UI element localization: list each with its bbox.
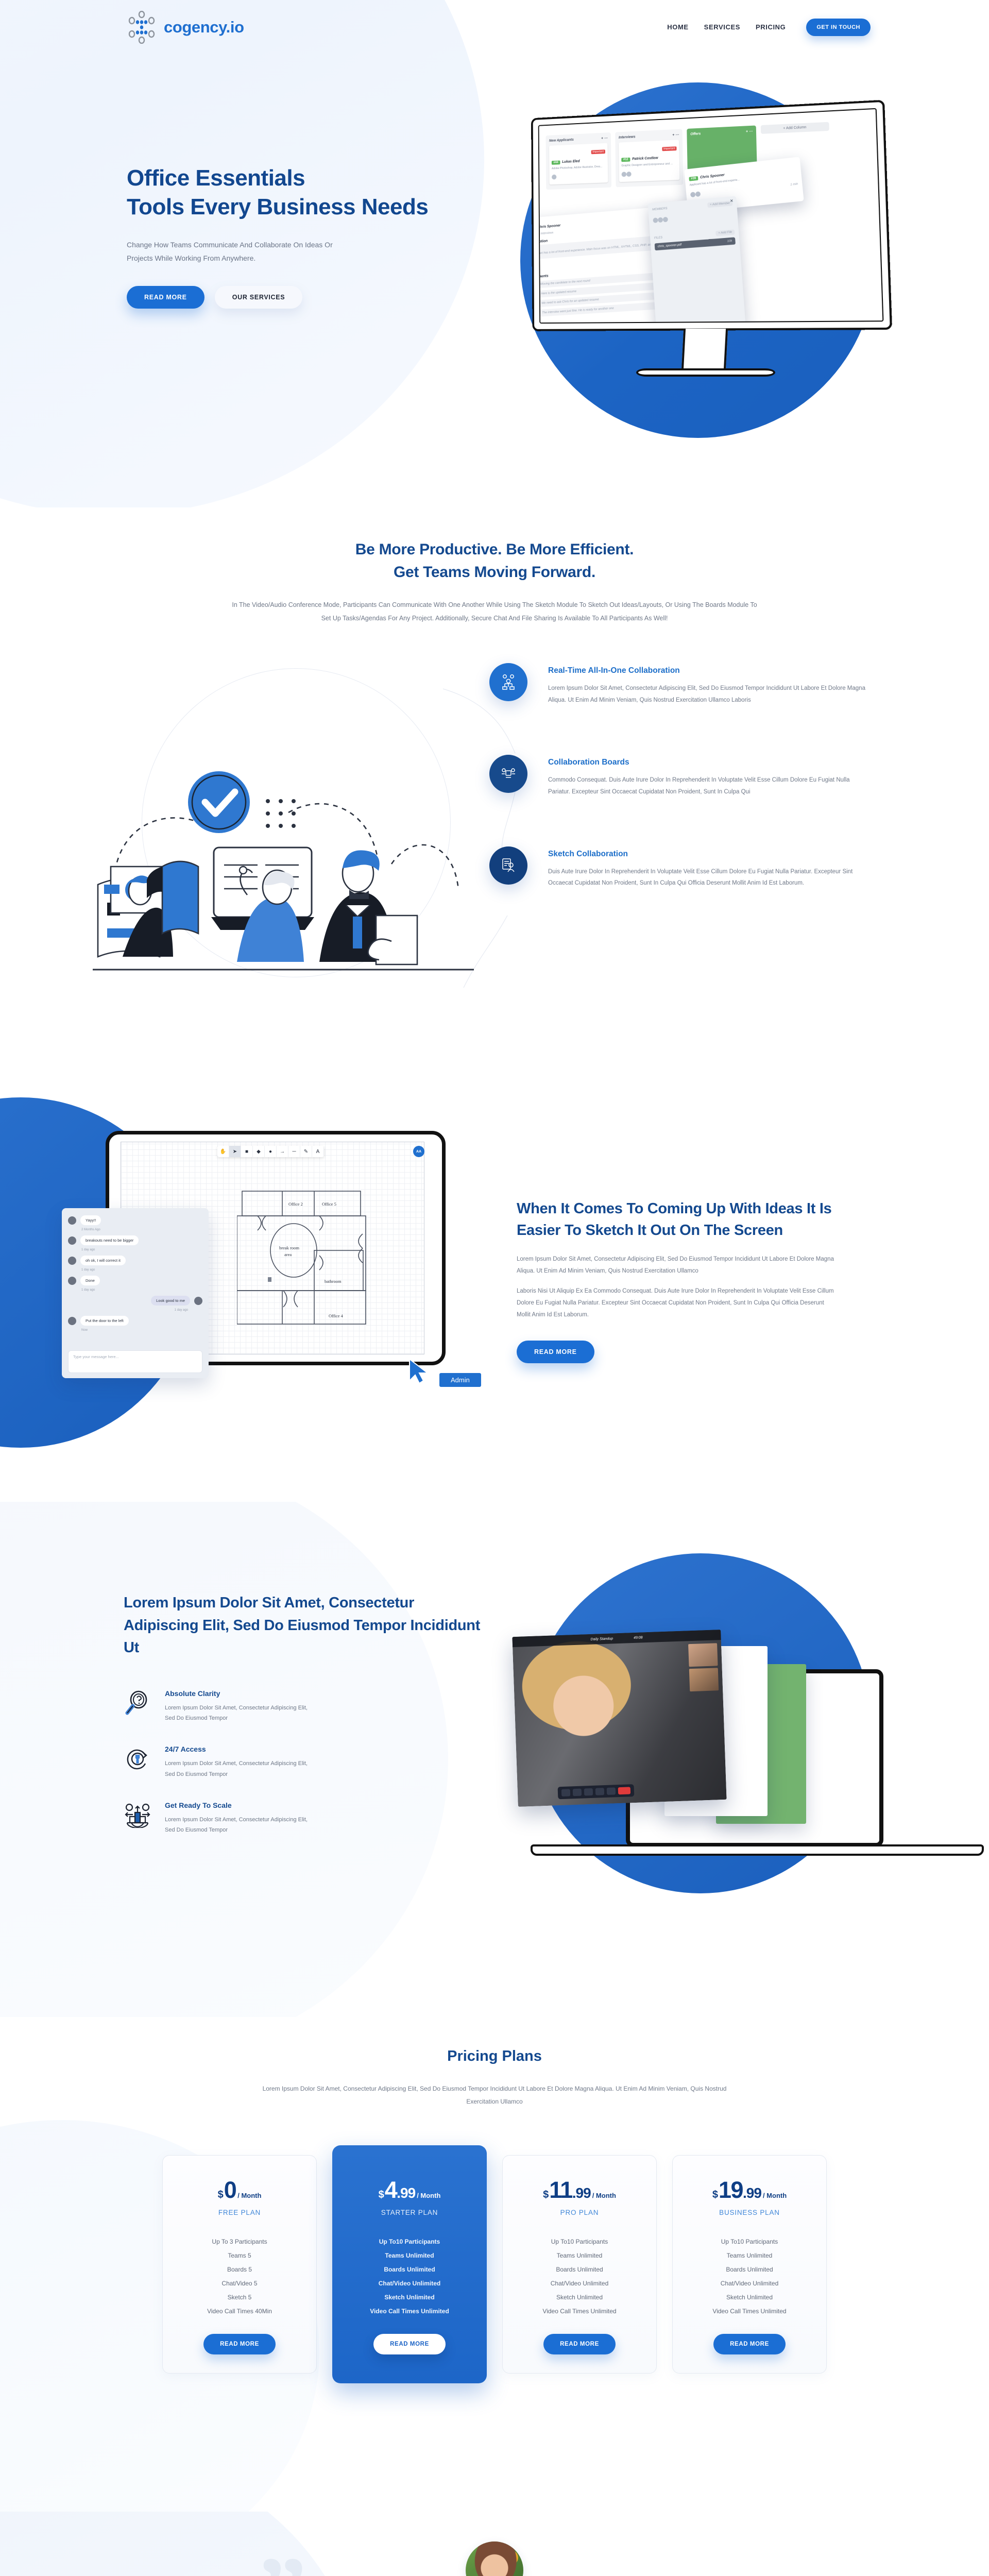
plan-feature: Video Call Times Unlimited [514,2304,645,2318]
feature-desc: Lorem Ipsum Dolor Sit Amet, Consectetur … [548,683,871,706]
productivity-section: Be More Productive. Be More Efficient. G… [0,507,989,1069]
arrow-tool-icon[interactable]: → [277,1146,288,1157]
testimonial-avatar [466,2541,523,2576]
plan-name: BUSINESS PLAN [684,2209,815,2216]
add-member-button[interactable]: + Add Member [707,200,733,208]
avatar [68,1236,76,1245]
tablet-mockup: Office 2 Office 5 break room area bathro… [106,1131,461,1378]
plan-feature: Teams Unlimited [684,2249,815,2263]
sketch-icon [489,846,527,885]
feature-item: Real-Time All-In-One Collaboration Lorem… [489,663,871,706]
feature-title: Collaboration Boards [548,758,871,767]
nav-links-group: HOME SERVICES PRICING GET IN TOUCH [667,19,871,36]
cursor-icon [407,1358,433,1388]
share-screen-icon[interactable] [595,1788,604,1795]
teamwork-illustration [82,735,494,993]
svg-text:Office 4: Office 4 [329,1313,344,1318]
card-desc: Adobe Photoshop, Adobe Illustrator, Drea… [552,165,605,171]
plan-features: Up To10 Participants Teams Unlimited Boa… [514,2235,645,2318]
benefit-item: Get Ready To Scale Lorem Ipsum Dolor Sit… [124,1801,484,1836]
section3-read-more-button[interactable]: READ MORE [517,1341,594,1363]
price: $ 19 .99 / Month [684,2178,815,2201]
section2-body: Real-Time All-In-One Collaboration Lorem… [0,658,989,1065]
brand-name: cogency.io [164,18,244,37]
section4-title: Lorem Ipsum Dolor Sit Amet, Consectetur … [124,1592,484,1659]
kanban-column-menu-icon[interactable]: + ⋯ [746,129,753,134]
svg-text:break room: break room [279,1245,299,1250]
plan-feature: Video Call Times Unlimited [344,2304,475,2318]
chat-message: oh ok, I will correct it [68,1256,202,1265]
chat-message: breakouts need to be bigger [68,1235,202,1245]
important-flag: Important [591,149,605,154]
wrench-refresh-icon [124,1745,151,1773]
chat-time: 1 day ago [81,1289,202,1292]
section2-subtitle: In The Video/Audio Conference Mode, Part… [229,599,760,625]
avatar [658,217,663,223]
pricing-subtitle: Lorem Ipsum Dolor Sit Amet, Consectetur … [250,2082,739,2108]
end-call-icon[interactable] [618,1787,630,1794]
chat-bubble: breakouts need to be bigger [80,1235,139,1245]
hero-title: Office Essentials Tools Every Business N… [127,164,456,222]
plan-read-more-button[interactable]: READ MORE [543,2334,616,2354]
plan-feature: Chat/Video Unlimited [514,2277,645,2291]
add-file-button[interactable]: + Add File [715,229,735,236]
svg-text:Office 2: Office 2 [288,1201,303,1207]
plan-feature: Chat/Video 5 [174,2277,305,2291]
currency-symbol: $ [218,2189,224,2201]
plan-feature: Boards Unlimited [514,2263,645,2277]
testimonial-soft-blob [0,2512,361,2576]
chat-time: 1 day ago [81,1309,188,1312]
user-avatar-badge[interactable]: AA [413,1146,424,1157]
line-tool-icon[interactable]: ─ [288,1146,300,1157]
plan-feature: Teams Unlimited [344,2249,475,2263]
sketch-toolbar: ✋ ➤ ■ ◆ ● → ─ ✎ A [217,1146,324,1157]
avatar [626,172,632,177]
price-integer: 4 [385,2178,397,2201]
avatar [68,1216,76,1225]
chat-message: Done [68,1276,202,1285]
avatar [690,192,696,197]
avatar [622,172,627,177]
brand-logo-group[interactable]: cogency.io [126,11,244,44]
avatar [194,1297,202,1305]
plan-feature: Boards Unlimited [684,2263,815,2277]
section2-title-line1: Be More Productive. Be More Efficient. [355,541,634,558]
section2-title: Be More Productive. Be More Efficient. G… [0,538,989,583]
plan-feature: Sketch Unlimited [344,2291,475,2304]
mic-icon[interactable] [561,1789,570,1797]
card-badge: #39 [689,176,698,181]
members-label: MEMBERS [652,207,668,211]
avatar [68,1317,76,1325]
call-timer: 49:08 [634,1636,643,1640]
kanban-column-menu-icon[interactable]: + ⋯ [601,136,607,140]
price-period: / Month [592,2192,616,2199]
benefit-desc: Lorem Ipsum Dolor Sit Amet, Consectetur … [165,1758,314,1780]
feature-title: Real-Time All-In-One Collaboration [548,666,871,675]
monitor-neck [681,329,728,370]
get-in-touch-button[interactable]: GET IN TOUCH [806,19,871,36]
plan-feature: Video Call Times Unlimited [684,2304,815,2318]
section3-title: When It Comes To Coming Up With Ideas It… [517,1198,836,1241]
monitor-screen: New Applicants+ ⋯ Important #44Lukas Ele… [538,108,884,324]
call-title: Daily Standup [590,1637,613,1641]
benefit-list: Absolute Clarity Lorem Ipsum Dolor Sit A… [124,1689,484,1836]
plan-name: STARTER PLAN [344,2209,475,2216]
laptop-mockup: ∞ Daily Standup 49:08 [515,1615,896,1883]
sketch-copy: When It Comes To Coming Up With Ideas It… [517,1198,836,1363]
price-decimal: .99 [743,2185,761,2201]
participant-thumbnail [688,1643,718,1667]
hero-our-services-button[interactable]: OUR SERVICES [215,286,303,309]
circle-tool-icon[interactable]: ● [265,1146,277,1157]
testimonial-section: ” BRIAN T. SULLIVAN Lorem Ipsum Dolor Si… [0,2512,989,2576]
currency-symbol: $ [379,2189,384,2201]
price-period: / Month [417,2192,440,2199]
price: $ 0 / Month [174,2178,305,2201]
nav-link-services[interactable]: SERVICES [704,23,740,31]
select-tool-icon[interactable]: ➤ [229,1146,241,1157]
avatar [68,1277,76,1285]
chat-time: 1 day ago [81,1248,202,1251]
svg-text:bathroom: bathroom [325,1279,342,1284]
plan-feature: Chat/Video Unlimited [344,2277,475,2291]
files-label: FILES [654,236,663,240]
feature-item: Collaboration Boards Commodo Consequat. … [489,755,871,798]
benefit-desc: Lorem Ipsum Dolor Sit Amet, Consectetur … [165,1815,314,1836]
price-decimal: .99 [572,2185,591,2201]
plan-feature: Sketch 5 [174,2291,305,2304]
price: $ 4 .99 / Month [344,2178,475,2201]
hero-section: cogency.io HOME SERVICES PRICING GET IN … [0,0,989,507]
main-navbar: cogency.io HOME SERVICES PRICING GET IN … [0,0,989,54]
card-name: Lukas Eled [562,160,579,164]
plan-feature: Boards 5 [174,2263,305,2277]
chat-bubble: Done [80,1276,100,1285]
benefit-title: Absolute Clarity [165,1689,314,1698]
plan-features: Up To 3 Participants Teams 5 Boards 5 Ch… [174,2235,305,2318]
pan-tool-icon[interactable]: ✋ [217,1146,229,1157]
quote-mark-icon: ” [258,2543,306,2576]
price-decimal: .99 [397,2185,415,2201]
scale-globe-icon [124,1801,151,1829]
kanban-column-menu-icon[interactable]: + ⋯ [672,133,679,137]
card-name: Chris Spooner [700,173,725,179]
text-tool-icon[interactable]: A [312,1146,324,1157]
kanban-column: Interviews+ ⋯ Important #12Patrick Costl… [615,129,683,187]
plan-feature: Up To 3 Participants [174,2235,305,2249]
hero-copy: Office Essentials Tools Every Business N… [127,164,456,309]
plan-feature: Up To10 Participants [344,2235,475,2249]
benefits-section: Lorem Ipsum Dolor Sit Amet, Consectetur … [0,1502,989,2017]
video-call-card: Daily Standup 49:08 [512,1630,726,1807]
kanban-column-title: Offers [690,132,701,136]
chat-bubble: Yayy!! [80,1215,101,1225]
plan-feature: Boards Unlimited [344,2263,475,2277]
kanban-card[interactable]: Important #44Lukas Eled Adobe Photoshop,… [549,143,608,184]
kanban-column-title: New Applicants [549,138,574,143]
feature-desc: Commodo Consequat. Duis Aute Irure Dolor… [548,774,871,798]
price: $ 11 .99 / Month [514,2178,645,2201]
plan-features: Up To10 Participants Teams Unlimited Boa… [344,2235,475,2318]
benefit-title: Get Ready To Scale [165,1801,314,1809]
card-name: Patrick Costlow [632,156,658,161]
plan-feature: Up To10 Participants [514,2235,645,2249]
diamond-tool-icon[interactable]: ◆ [253,1146,265,1157]
plan-features: Up To10 Participants Teams Unlimited Boa… [684,2235,815,2318]
plan-feature: Sketch Unlimited [684,2291,815,2304]
plan-feature: Video Call Times 40Min [174,2304,305,2318]
feature-desc: Duis Aute Irure Dolor In Reprehenderit I… [548,866,871,889]
chat-bubble: oh ok, I will correct it [80,1256,126,1265]
feature-item: Sketch Collaboration Duis Aute Irure Dol… [489,846,871,889]
nav-link-home[interactable]: HOME [667,23,688,31]
avatar-image [466,2541,523,2576]
close-icon[interactable]: ✕ [730,198,734,204]
chat-message: Put the door to the left [68,1316,202,1326]
laptop-base [531,1844,984,1856]
price-integer: 11 [549,2178,572,2201]
benefit-item: 24/7 Access Lorem Ipsum Dolor Sit Amet, … [124,1745,484,1780]
floorplan-drawing: Office 2 Office 5 break room area bathro… [237,1189,397,1343]
plan-read-more-button[interactable]: READ MORE [713,2334,786,2354]
benefit-desc: Lorem Ipsum Dolor Sit Amet, Consectetur … [165,1703,314,1724]
svg-text:Office 5: Office 5 [322,1201,336,1207]
members-files-panel: MEMBERS + Add Member FILES + Add File ch… [648,196,746,324]
admin-cursor-label: Admin [439,1373,481,1387]
plan-name: PRO PLAN [514,2209,645,2216]
team-collaboration-icon [489,663,527,701]
monitor-base [636,368,775,377]
plan-feature: Teams 5 [174,2249,305,2263]
pricing-cards: $ 0 / Month FREE PLAN Up To 3 Participan… [0,2145,989,2383]
hero-monitor-mockup: New Applicants+ ⋯ Important #44Lukas Ele… [513,108,891,397]
price-period: / Month [237,2192,261,2199]
monitor-frame: New Applicants+ ⋯ Important #44Lukas Ele… [531,100,892,331]
plan-read-more-button[interactable]: READ MORE [203,2334,276,2354]
chat-panel: Yayy!! 2 Months Ago breakouts need to be… [62,1208,209,1378]
plan-feature: Sketch Unlimited [514,2291,645,2304]
section2-title-line2: Get Teams Moving Forward. [394,564,595,581]
benefits-copy: Lorem Ipsum Dolor Sit Amet, Consectetur … [124,1592,484,1857]
camera-icon[interactable] [573,1789,582,1797]
pricing-card-business[interactable]: $ 19 .99 / Month BUSINESS PLAN Up To10 P… [672,2155,827,2374]
pricing-section: Pricing Plans Lorem Ipsum Dolor Sit Amet… [0,2017,989,2512]
pricing-card-free[interactable]: $ 0 / Month FREE PLAN Up To 3 Participan… [162,2155,317,2374]
kanban-card[interactable]: Important #12Patrick Costlow Graphic Des… [619,140,679,182]
hero-title-line1: Office Essentials [127,165,305,191]
kanban-column: New Applicants+ ⋯ Important #44Lukas Ele… [545,132,611,190]
cogency-logo-icon [126,11,157,44]
chat-time: 1 day ago [81,1268,202,1272]
feature-title: Sketch Collaboration [548,850,871,859]
card-desc: Graphic Designer and Entrepreneur and ..… [621,162,677,168]
plan-feature: Teams Unlimited [514,2249,645,2263]
section3-paragraph-2: Laboris Nisi Ut Aliquip Ex Ea Commodo Co… [517,1285,836,1321]
chat-time: 2 Months Ago [81,1228,202,1231]
important-flag: Important [662,146,676,151]
participant-thumbnail [689,1668,719,1691]
plan-name: FREE PLAN [174,2209,305,2216]
file-name[interactable]: chris_spooner.pdf [658,243,682,248]
avatar [653,217,658,223]
svg-text:area: area [284,1252,292,1257]
feature-list: Real-Time All-In-One Collaboration Lorem… [489,663,871,938]
plan-feature: Chat/Video Unlimited [684,2277,815,2291]
square-tool-icon[interactable]: ■ [241,1146,253,1157]
avatar [68,1257,76,1265]
chat-message: Yayy!! [68,1215,202,1225]
benefit-item: Absolute Clarity Lorem Ipsum Dolor Sit A… [124,1689,484,1724]
avatar [663,217,668,223]
hero-subtitle: Change How Teams Communicate And Collabo… [127,239,348,265]
landing-page: cogency.io HOME SERVICES PRICING GET IN … [0,0,989,2576]
section3-paragraph-1: Lorem Ipsum Dolor Sit Amet, Consectetur … [517,1253,836,1277]
hero-read-more-button[interactable]: READ MORE [127,286,204,309]
sketch-section: Office 2 Office 5 break room area bathro… [0,1069,989,1502]
chat-icon[interactable] [584,1788,593,1796]
time-badge: 1 min [790,182,798,187]
chat-input[interactable]: Type your message here... [68,1350,202,1373]
plan-feature: Up To10 Participants [684,2235,815,2249]
chat-bubble: Look good to me [151,1296,190,1306]
plan-read-more-button[interactable]: READ MORE [373,2334,446,2354]
kanban-column-title: Interviews [619,135,636,139]
card-badge: #12 [621,158,630,162]
pricing-title: Pricing Plans [0,2048,989,2065]
hero-title-line2: Tools Every Business Needs [127,194,428,219]
chat-time: Now [81,1329,202,1332]
magnifier-question-icon [124,1689,151,1717]
benefit-title: 24/7 Access [165,1745,314,1753]
pricing-card-pro[interactable]: $ 11 .99 / Month PRO PLAN Up To10 Partic… [502,2155,657,2374]
pencil-tool-icon[interactable]: ✎ [300,1146,312,1157]
file-size: 10k [727,240,732,243]
card-name: Chris Spooner [538,224,561,229]
price-integer: 19 [719,2178,743,2201]
chat-bubble: Put the door to the left [80,1316,129,1326]
currency-symbol: $ [543,2189,549,2201]
nav-link-pricing[interactable]: PRICING [756,23,786,31]
currency-symbol: $ [712,2189,718,2201]
avatar [552,174,556,179]
price-period: / Month [763,2192,787,2199]
price-integer: 0 [224,2178,236,2201]
boards-icon [489,755,527,793]
more-icon[interactable] [607,1787,616,1795]
chat-message-self: Look good to me [68,1296,202,1306]
hero-buttons: READ MORE OUR SERVICES [127,286,456,309]
card-badge: #44 [552,160,560,164]
pricing-card-starter[interactable]: $ 4 .99 / Month STARTER PLAN Up To10 Par… [332,2145,487,2383]
avatar [695,191,701,197]
